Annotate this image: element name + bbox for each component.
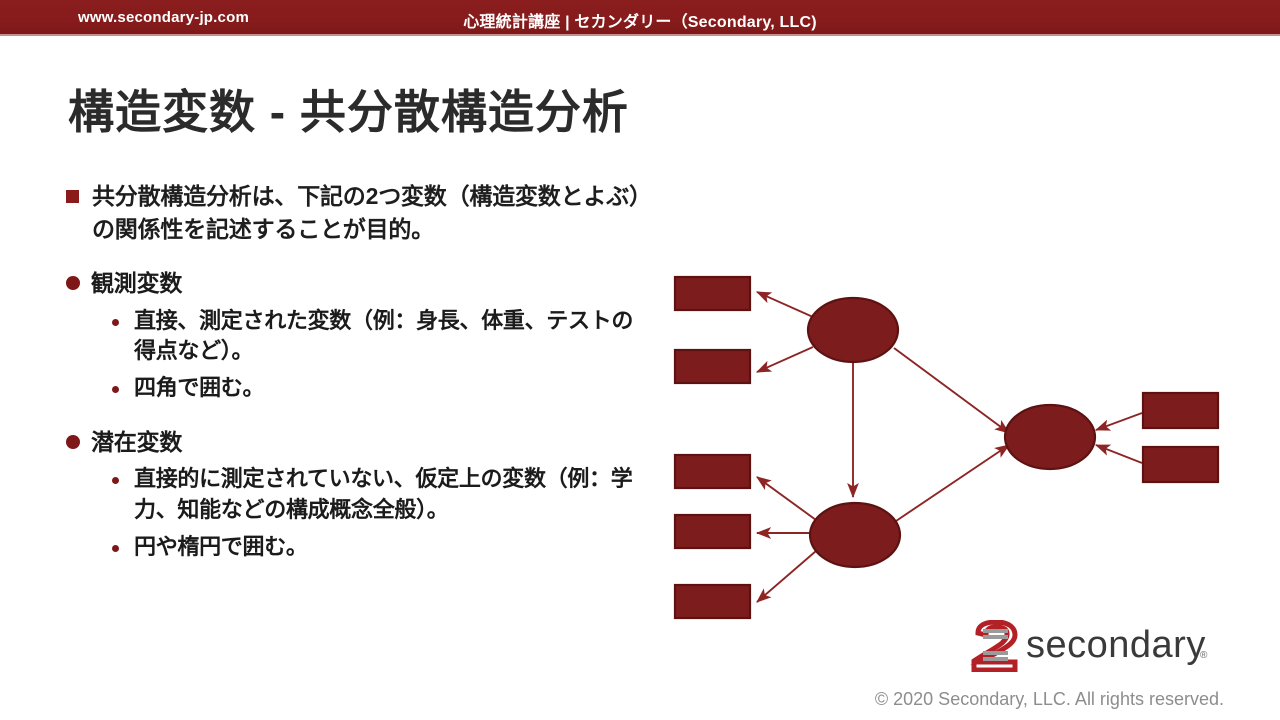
section-heading-observed-label: 観測変数 (91, 267, 182, 299)
latent-variable-nodes (808, 298, 1095, 567)
observed-variable-box-4 (675, 515, 750, 548)
list-item-label: 円や楕円で囲む。 (134, 532, 308, 563)
latent-variable-ellipse-bottom-left (810, 503, 900, 567)
slide-content: 共分散構造分析は、下記の2つ変数（構造変数とよぶ）の関係性を記述することが目的。… (66, 180, 646, 562)
observed-variable-box-7 (1143, 447, 1218, 482)
edge-latent-top-left-to-obs-2 (757, 347, 813, 372)
observed-variable-box-2 (675, 350, 750, 383)
secondary-logo-wordmark: secondary (1026, 624, 1206, 667)
observed-variable-box-3 (675, 455, 750, 488)
section-heading-observed: 観測変数 (66, 267, 646, 299)
list-item-label: 直接的に測定されていない、仮定上の変数（例：学力、知能などの構成概念全般）。 (134, 464, 646, 526)
list-item-label: 直接、測定された変数（例：身長、体重、テストの得点など）。 (134, 306, 646, 368)
observed-variable-box-1 (675, 277, 750, 310)
list-item: 直接的に測定されていない、仮定上の変数（例：学力、知能などの構成概念全般）。 (112, 464, 646, 526)
edge-obs-6-to-latent-right (1096, 413, 1142, 430)
list-item: 円や楕円で囲む。 (112, 532, 646, 563)
edge-latent-bottom-left-to-obs-5 (757, 551, 816, 602)
edge-obs-7-to-latent-right (1096, 445, 1142, 463)
square-bullet-icon (66, 190, 79, 203)
path-diagram (650, 255, 1250, 645)
observed-variable-nodes (675, 277, 1218, 618)
section-heading-latent-label: 潜在変数 (91, 426, 182, 458)
bullet-intro-text: 共分散構造分析は、下記の2つ変数（構造変数とよぶ）の関係性を記述することが目的。 (92, 180, 646, 245)
observed-variable-box-5 (675, 585, 750, 618)
secondary-logo-mark-icon (968, 620, 1024, 672)
observed-variable-box-6 (1143, 393, 1218, 428)
dot-bullet-icon (112, 319, 119, 326)
list-item: 直接、測定された変数（例：身長、体重、テストの得点など）。 (112, 306, 646, 368)
bullet-intro: 共分散構造分析は、下記の2つ変数（構造変数とよぶ）の関係性を記述することが目的。 (66, 180, 646, 245)
latent-variable-ellipse-top-left (808, 298, 898, 362)
dot-bullet-icon (112, 386, 119, 393)
header-bar: www.secondary-jp.com 心理統計講座 | セカンダリー（Sec… (0, 0, 1280, 36)
footer-copyright: © 2020 Secondary, LLC. All rights reserv… (875, 689, 1224, 710)
round-bullet-icon (66, 435, 80, 449)
round-bullet-icon (66, 276, 80, 290)
list-item-label: 四角で囲む。 (134, 373, 264, 404)
edge-latent-bottom-left-to-latent-right (896, 445, 1009, 521)
dot-bullet-icon (112, 545, 119, 552)
dot-bullet-icon (112, 477, 119, 484)
latent-variable-ellipse-right (1005, 405, 1095, 469)
edge-latent-top-left-to-obs-1 (757, 292, 813, 317)
page-title: 構造変数 - 共分散構造分析 (68, 76, 629, 142)
section-heading-latent: 潜在変数 (66, 426, 646, 458)
list-item: 四角で囲む。 (112, 373, 646, 404)
edge-latent-top-left-to-latent-right (894, 348, 1009, 433)
edge-latent-bottom-left-to-obs-3 (757, 477, 816, 520)
header-course-title: 心理統計講座 | セカンダリー（Secondary, LLC) (0, 8, 1280, 32)
secondary-logo: secondary ® (968, 620, 1216, 676)
registered-trademark-icon: ® (1200, 650, 1207, 661)
